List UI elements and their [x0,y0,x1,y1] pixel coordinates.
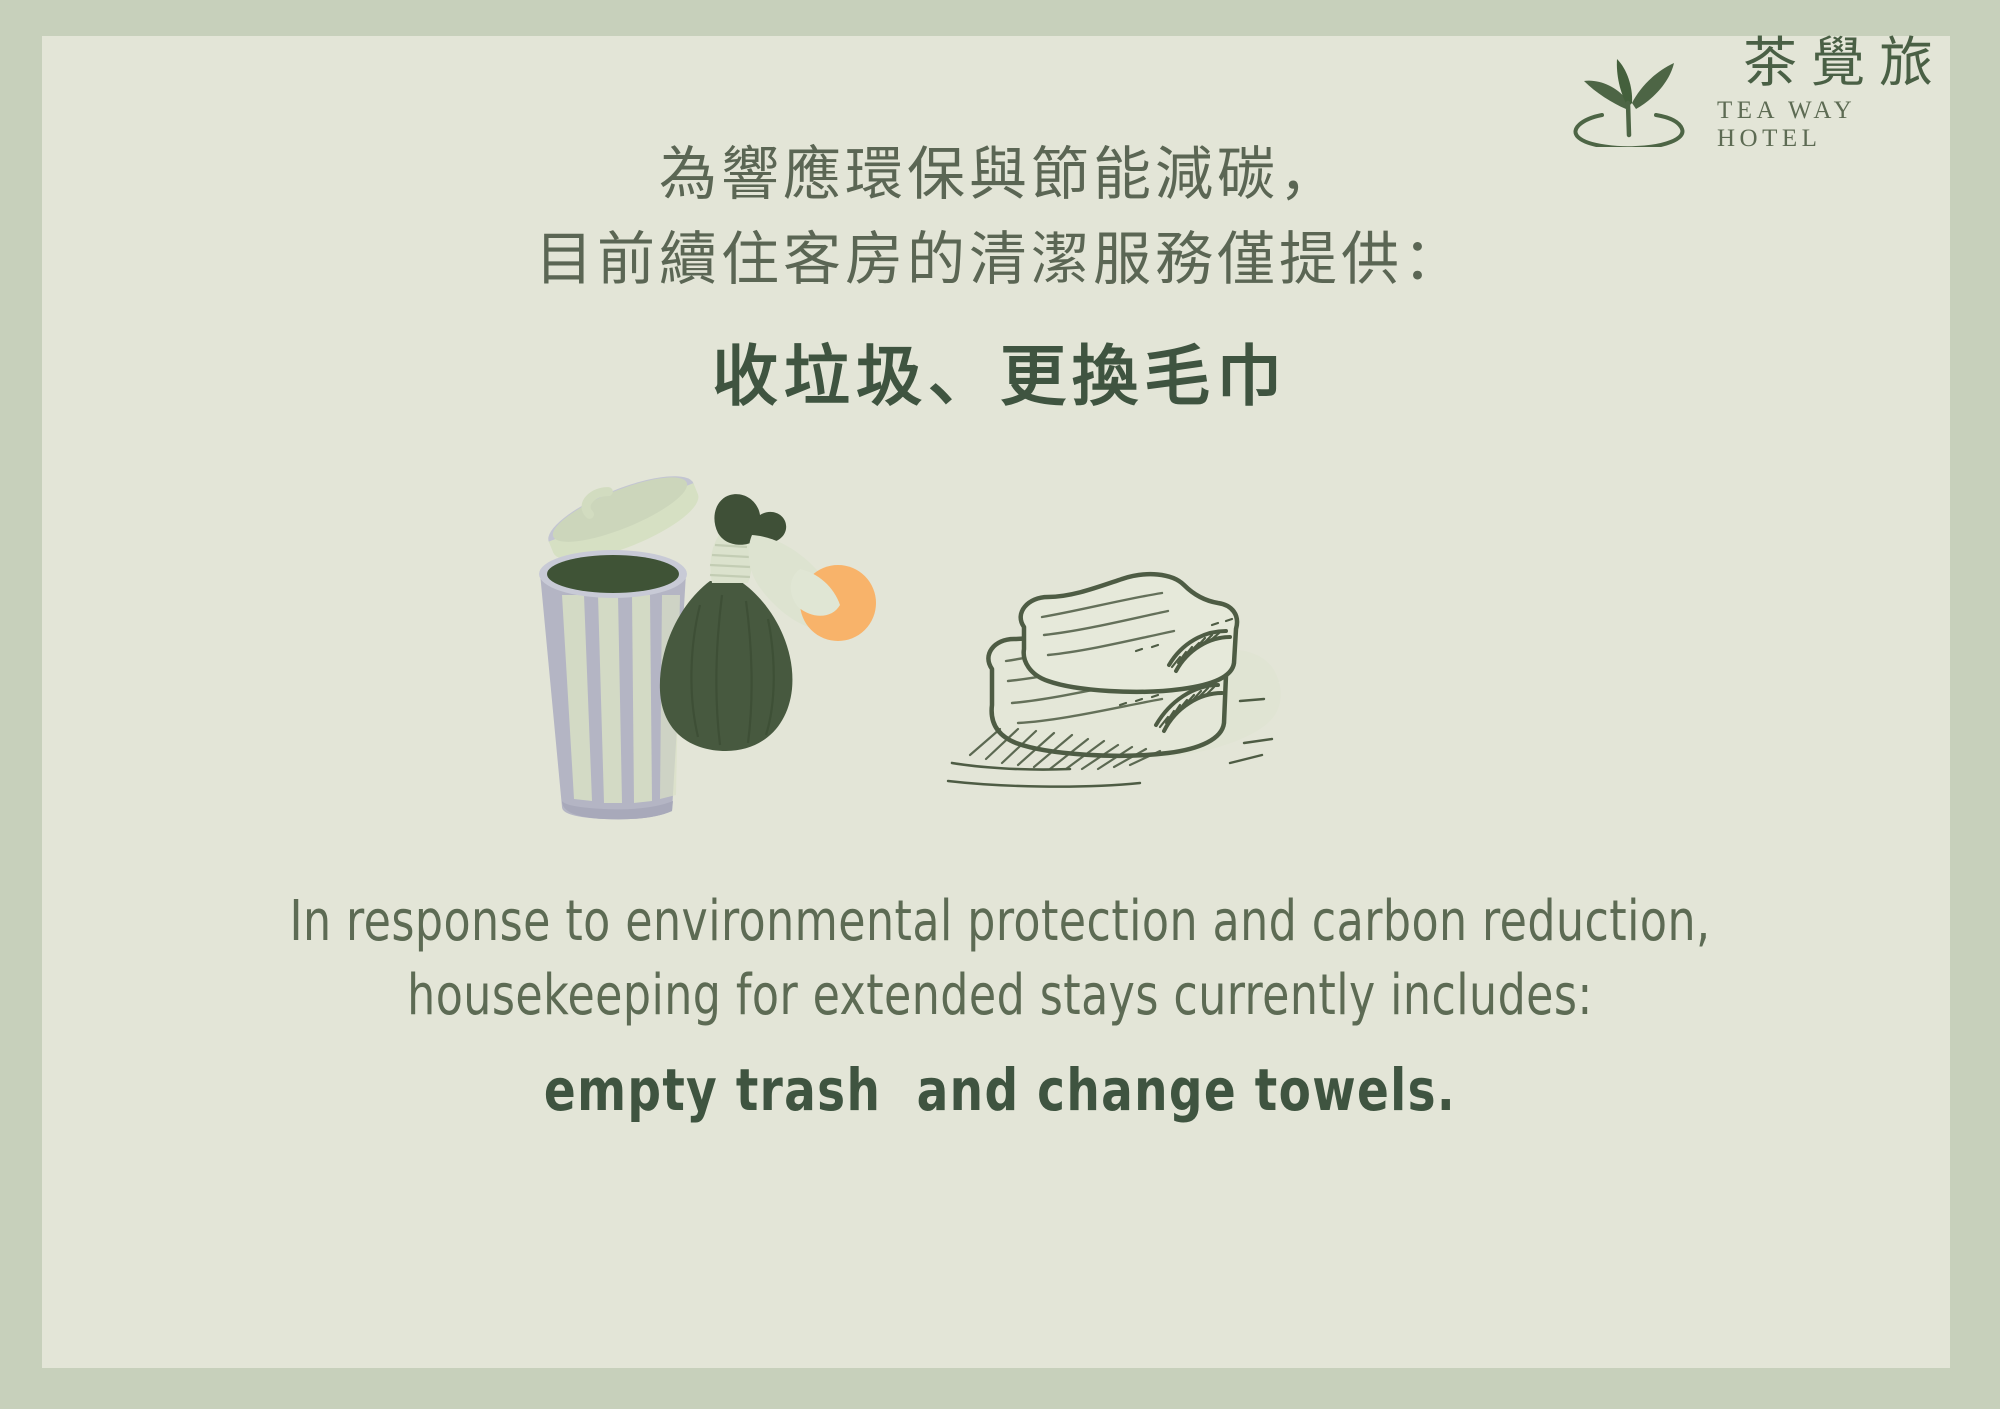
english-emphasis-line: empty trash and change towels. [100,1056,1900,1124]
chinese-emphasis-line: 收垃圾、更換毛巾 [0,323,2000,419]
english-message-block: In response to environmental protection … [0,885,2000,1124]
english-line-1: In response to environmental protection … [120,885,1880,959]
english-line-2: housekeeping for extended stays currentl… [120,959,1880,1033]
trash-bag-illustration [660,494,876,751]
tea-sprout-icon [1564,37,1694,147]
logo-chinese-name: 茶覺旅 [1729,35,1947,92]
folded-towels-illustration [948,574,1281,786]
poster-root: 茶覺旅 TEA WAY HOTEL 為響應環保與節能減碳， 目前續住客房的清潔服… [0,0,2000,1409]
chinese-line-1: 為響應環保與節能減碳， [0,136,2000,213]
housekeeping-illustration [500,455,1500,855]
chinese-line-2: 目前續住客房的清潔服務僅提供： [0,221,2000,298]
logo-wordmark: 茶覺旅 TEA WAY HOTEL [1712,31,1964,154]
illustration-group [0,455,2000,865]
chinese-message-block: 為響應環保與節能減碳， 目前續住客房的清潔服務僅提供： 收垃圾、更換毛巾 [0,136,2000,419]
